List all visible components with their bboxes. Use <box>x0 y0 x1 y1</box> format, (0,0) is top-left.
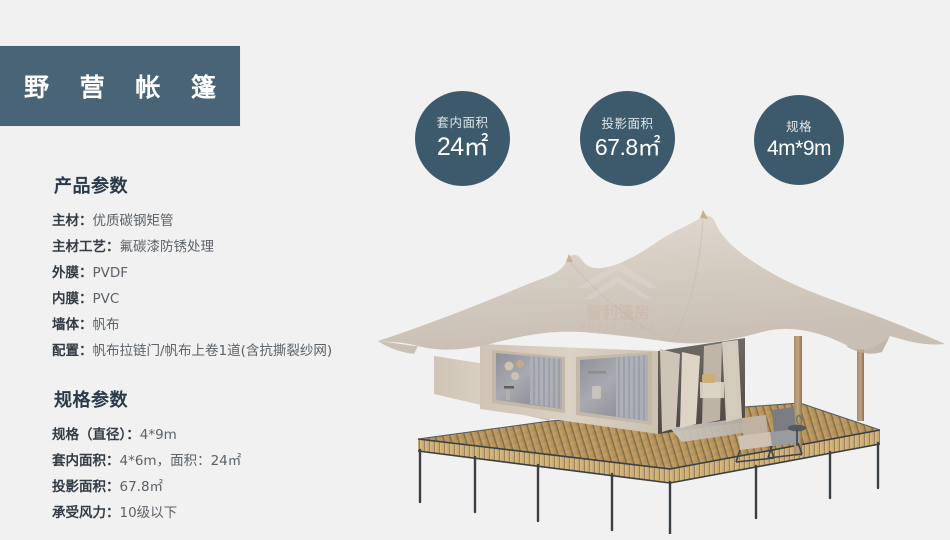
spec-section-specification: 规格参数 规格（直径）：4*9m 套内面积：4*6m，面积：24㎡ 投影面积：6… <box>52 386 382 526</box>
watermark-en-text: XUELI TENT <box>580 322 657 332</box>
spec-row: 墙体：帆布 <box>52 312 382 338</box>
stat-badge-interior-area: 套内面积 24㎡ <box>415 91 510 186</box>
spec-value: PVDF <box>93 265 129 281</box>
stat-badge-dimensions: 规格 4m*9m <box>754 95 844 185</box>
spec-value: 帆布拉链门/帆布上卷1道(含抗撕裂纱网) <box>93 343 333 359</box>
spec-value: 4*6m，面积：24㎡ <box>120 453 242 469</box>
tent-render-svg: 雪利篷房 XUELI TENT <box>370 196 950 534</box>
spec-label: 承受风力： <box>52 505 120 521</box>
product-spec-page: 野 营 帐 篷 产品参数 主材：优质碳钢矩管 主材工艺：氟碳漆防锈处理 外膜：P… <box>0 0 950 534</box>
spec-label: 主材： <box>52 213 93 229</box>
section-heading-specification: 规格参数 <box>54 386 382 412</box>
stat-badge-caption: 投影面积 <box>601 118 653 131</box>
spec-row: 主材工艺：氟碳漆防锈处理 <box>52 234 382 260</box>
spec-label: 墙体： <box>52 317 93 333</box>
spec-label: 主材工艺： <box>52 239 120 255</box>
spec-label: 内膜： <box>52 291 93 307</box>
spec-row: 套内面积：4*6m，面积：24㎡ <box>52 448 382 474</box>
spec-label: 外膜： <box>52 265 93 281</box>
spec-row: 配置：帆布拉链门/帆布上卷1道(含抗撕裂纱网) <box>52 338 382 364</box>
spec-value: PVC <box>93 291 120 307</box>
tent-illustration: 雪利篷房 XUELI TENT <box>370 196 950 534</box>
window-panel-left <box>492 350 565 413</box>
spec-row: 内膜：PVC <box>52 286 382 312</box>
spec-row: 投影面积：67.8㎡ <box>52 474 382 500</box>
spec-row: 规格（直径）：4*9m <box>52 422 382 448</box>
spec-label: 套内面积： <box>52 453 120 469</box>
spec-value: 氟碳漆防锈处理 <box>120 239 215 255</box>
stat-badge-caption: 规格 <box>786 121 812 134</box>
spec-section-product: 产品参数 主材：优质碳钢矩管 主材工艺：氟碳漆防锈处理 外膜：PVDF 内膜：P… <box>52 172 382 364</box>
stat-badge-projected-area: 投影面积 67.8㎡ <box>580 91 675 186</box>
stat-badge-caption: 套内面积 <box>436 117 488 130</box>
spec-row: 承受风力：10级以下 <box>52 500 382 526</box>
canopy-roof <box>378 210 945 354</box>
spec-label: 规格（直径）： <box>52 427 140 443</box>
spec-value: 67.8㎡ <box>120 479 164 495</box>
stat-badge-value: 4m*9m <box>767 138 831 159</box>
spec-value: 4*9m <box>140 427 177 443</box>
spec-value: 帆布 <box>93 317 120 333</box>
watermark-cn-text: 雪利篷房 <box>586 303 650 322</box>
spec-row: 外膜：PVDF <box>52 260 382 286</box>
section-heading-product: 产品参数 <box>54 172 382 198</box>
spec-value: 优质碳钢矩管 <box>93 213 174 229</box>
spec-label: 投影面积： <box>52 479 120 495</box>
spec-value: 10级以下 <box>120 505 178 521</box>
spec-label: 配置： <box>52 343 93 359</box>
specification-panel: 产品参数 主材：优质碳钢矩管 主材工艺：氟碳漆防锈处理 外膜：PVDF 内膜：P… <box>52 172 382 540</box>
page-title-banner: 野 营 帐 篷 <box>0 46 240 126</box>
spec-row: 主材：优质碳钢矩管 <box>52 208 382 234</box>
page-title: 野 营 帐 篷 <box>13 68 227 104</box>
stat-badge-value: 24㎡ <box>437 135 488 160</box>
stat-badge-value: 67.8㎡ <box>595 136 660 159</box>
window-panel-right <box>576 352 652 425</box>
